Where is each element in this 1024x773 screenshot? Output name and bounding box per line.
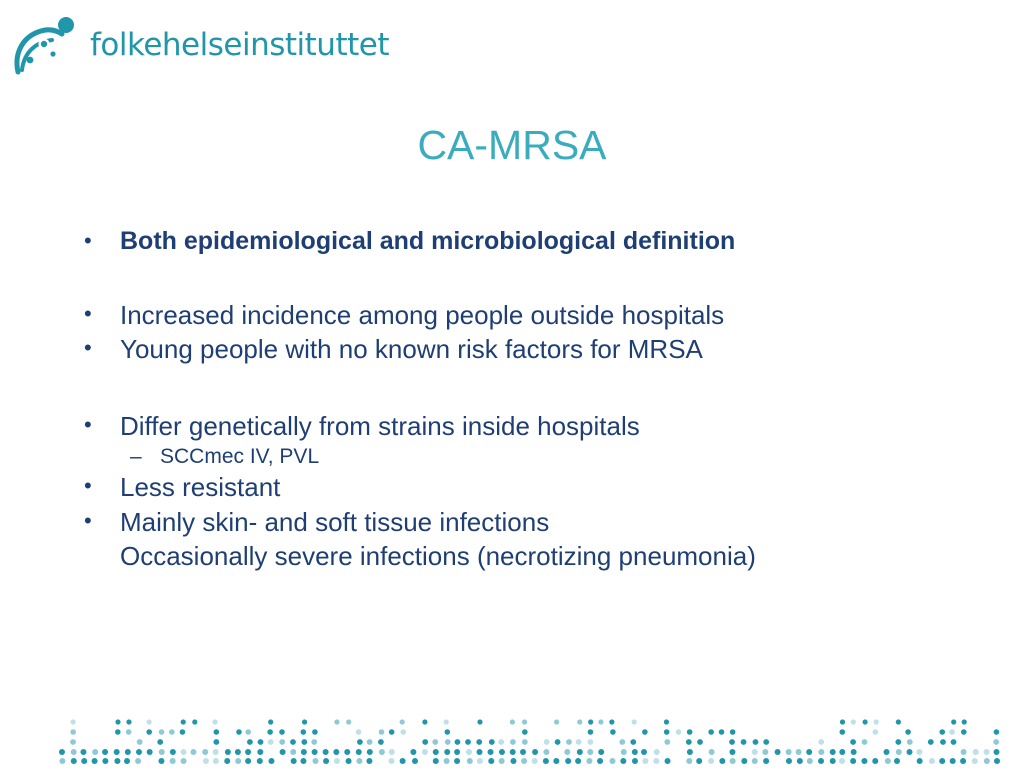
- bullet-text: Both epidemiological and microbiological…: [120, 225, 984, 258]
- logo: folkehelseinstituttet: [8, 14, 389, 76]
- fhi-figure-logo-icon: [8, 14, 80, 76]
- bullet-text-second-line: Occasionally severe infections (necrotiz…: [120, 539, 984, 573]
- bullet-item: • Both epidemiological and microbiologic…: [84, 225, 984, 258]
- bullet-marker-icon: •: [84, 409, 120, 441]
- bullet-item: • Mainly skin- and soft tissue infection…: [84, 505, 984, 574]
- bullet-item: • Young people with no known risk factor…: [84, 332, 984, 366]
- bullet-text: Young people with no known risk factors …: [120, 332, 984, 366]
- spacer: [84, 367, 984, 409]
- bullet-marker-icon: •: [84, 225, 120, 257]
- spacer: [84, 258, 984, 298]
- bullet-marker-icon: •: [84, 505, 120, 537]
- dash-marker-icon: –: [130, 443, 160, 470]
- bullet-text: Mainly skin- and soft tissue infections: [120, 505, 984, 539]
- logo-wordmark: folkehelseinstituttet: [90, 27, 389, 63]
- bullet-text: Less resistant: [120, 470, 984, 504]
- bullet-text: Increased incidence among people outside…: [120, 298, 984, 332]
- bullet-item: • Increased incidence among people outsi…: [84, 298, 984, 332]
- dotted-band-decoration: [0, 710, 1024, 768]
- bullet-text: Differ genetically from strains inside h…: [120, 409, 984, 443]
- bullet-marker-icon: •: [84, 298, 120, 330]
- bullet-marker-icon: •: [84, 332, 120, 364]
- sub-bullet-item: – SCCmec IV, PVL: [130, 443, 984, 470]
- page-title: CA-MRSA: [0, 122, 1024, 169]
- bullet-marker-icon: •: [84, 470, 120, 502]
- bullet-item: • Less resistant: [84, 470, 984, 504]
- bullet-item: • Differ genetically from strains inside…: [84, 409, 984, 443]
- sub-bullet-text: SCCmec IV, PVL: [160, 443, 319, 470]
- slide-body: • Both epidemiological and microbiologic…: [84, 225, 984, 573]
